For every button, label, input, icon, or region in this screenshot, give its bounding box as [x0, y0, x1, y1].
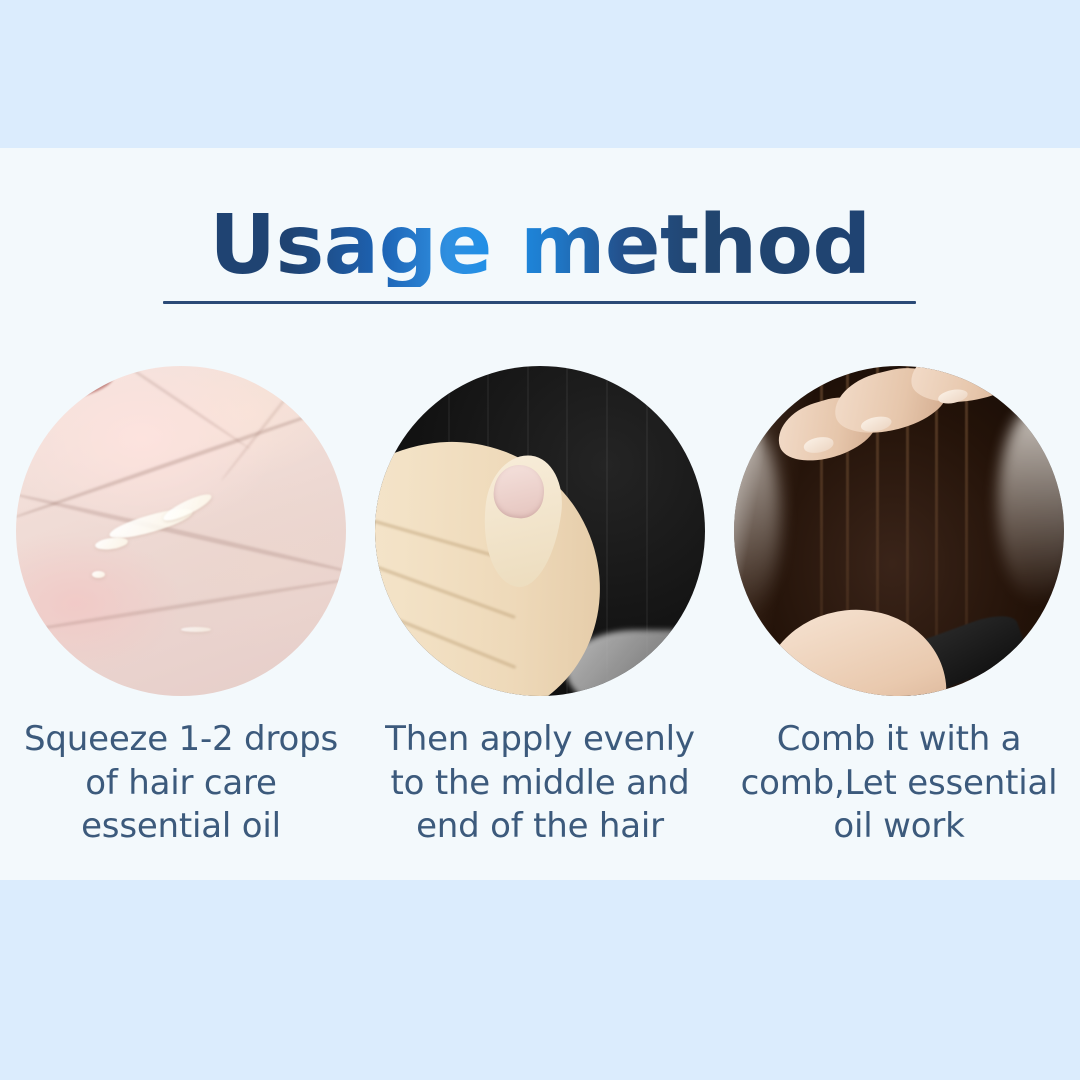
step-2-caption: Then apply evenly to the middle and end …: [385, 718, 695, 849]
caption-line: essential oil: [24, 805, 338, 849]
hand-applying-oil-to-hair-photo: [375, 366, 705, 696]
step-2: Then apply evenly to the middle and end …: [367, 366, 713, 849]
oil-droplet: [95, 535, 129, 551]
palm-skin-surface: [16, 366, 346, 696]
lower-hand: [754, 601, 952, 696]
caption-line: of hair care: [24, 762, 338, 806]
title-underline-divider: [163, 301, 916, 304]
steps-row: Squeeze 1-2 drops of hair care essential…: [0, 366, 1080, 849]
caption-line: Squeeze 1-2 drops: [24, 718, 338, 762]
bottom-color-band: [0, 880, 1080, 1080]
page-title: Usage method: [209, 205, 870, 287]
oil-droplet: [181, 627, 211, 632]
step-1-caption: Squeeze 1-2 drops of hair care essential…: [24, 718, 338, 849]
caption-line: end of the hair: [385, 805, 695, 849]
palm-crease: [219, 366, 327, 482]
brown-hair-background: [734, 366, 1064, 696]
caption-line: to the middle and: [385, 762, 695, 806]
page-title-wrapper: Usage method: [0, 196, 1080, 296]
black-hair-background: [375, 366, 705, 696]
caption-line: comb,Let essential: [741, 762, 1058, 806]
combing-hair-photo: [734, 366, 1064, 696]
step-3: Comb it with a comb,Let essential oil wo…: [726, 366, 1072, 849]
caption-line: oil work: [741, 805, 1058, 849]
palm-with-oil-drops-photo: [16, 366, 346, 696]
oil-droplet: [92, 571, 105, 578]
usage-method-infographic: Usage method: [0, 0, 1080, 1080]
caption-line: Then apply evenly: [385, 718, 695, 762]
oil-droplet: [161, 490, 214, 525]
step-3-caption: Comb it with a comb,Let essential oil wo…: [741, 718, 1058, 849]
step-1: Squeeze 1-2 drops of hair care essential…: [8, 366, 354, 849]
caption-line: Comb it with a: [741, 718, 1058, 762]
top-color-band: [0, 0, 1080, 148]
thumb-edge-detail: [47, 366, 117, 404]
